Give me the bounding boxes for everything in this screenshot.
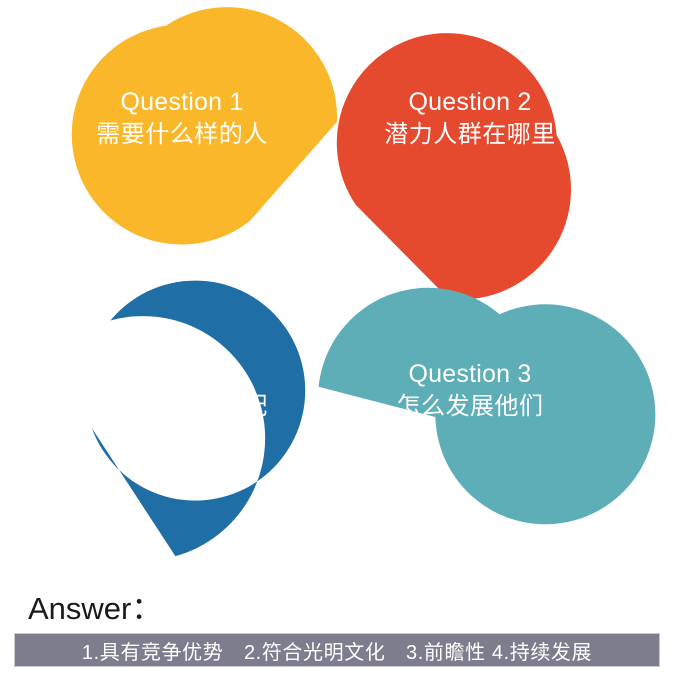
slide-canvas: Question 1 需要什么样的人 Question 2 潜力人群在哪里 Qu… <box>0 0 675 690</box>
petal-question-4-shape[interactable] <box>59 260 329 575</box>
petal-question-3[interactable] <box>308 279 665 534</box>
answer-heading: Answer： <box>28 583 162 628</box>
petal-question-1-shape[interactable] <box>56 0 353 259</box>
four-question-petal-diagram <box>0 0 675 575</box>
petal-question-3-shape[interactable] <box>308 279 665 534</box>
petal-question-2[interactable] <box>329 25 578 308</box>
petal-question-2-shape[interactable] <box>329 25 578 308</box>
answer-section: Answer： 1.具有竞争优势 2.符合光明文化 3.前瞻性 4.持续发展 <box>0 575 675 690</box>
petal-question-4[interactable] <box>59 260 329 575</box>
answer-bar-text: 1.具有竞争优势 2.符合光明文化 3.前瞻性 4.持续发展 <box>82 636 592 665</box>
answer-bar: 1.具有竞争优势 2.符合光明文化 3.前瞻性 4.持续发展 <box>14 633 660 667</box>
petal-question-1[interactable] <box>56 0 353 259</box>
